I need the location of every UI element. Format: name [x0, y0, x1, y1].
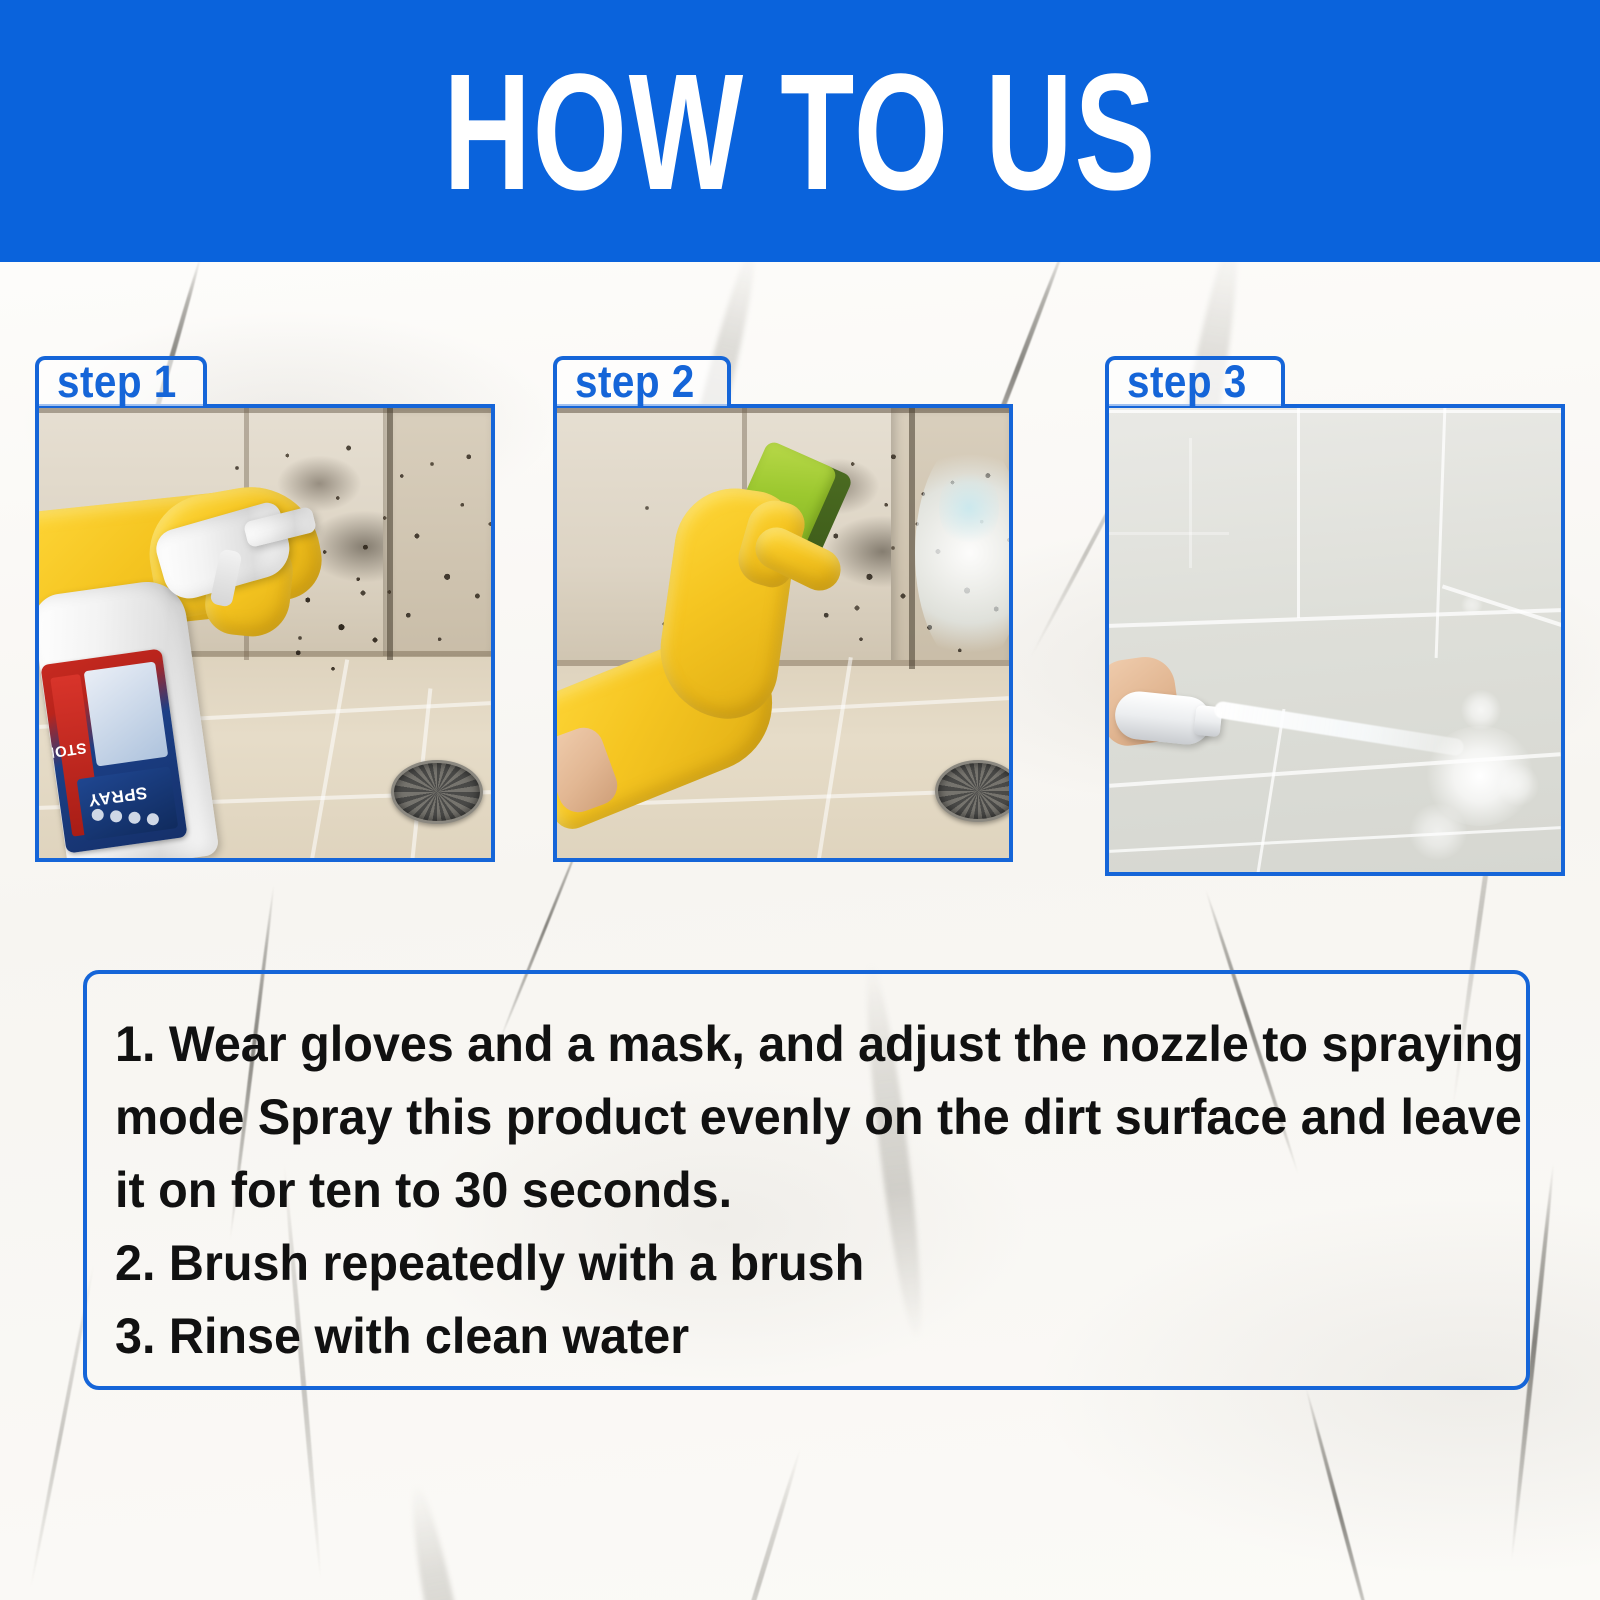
step-2-tab: step 2: [553, 356, 731, 406]
product-label: STONE CLEANING SPRAY: [40, 648, 187, 853]
step-3-image-frame: [1105, 404, 1565, 876]
instruction-line-3: it on for ten to 30 seconds.: [115, 1154, 1458, 1227]
step-3-photo: [1109, 408, 1561, 872]
step-2-image-frame: [553, 404, 1013, 862]
step-panel-1: step 1: [35, 356, 495, 862]
step-1-tab: step 1: [35, 356, 207, 406]
step-1-photo: STONE CLEANING SPRAY: [39, 408, 491, 858]
step-1-image-frame: STONE CLEANING SPRAY: [35, 404, 495, 862]
instruction-line-4: 2. Brush repeatedly with a brush: [115, 1227, 1458, 1300]
step-2-label: step 2: [575, 359, 695, 404]
floor-drain: [391, 760, 483, 824]
instruction-line-5: 3. Rinse with clean water: [115, 1300, 1458, 1373]
instruction-line-2: mode Spray this product evenly on the di…: [115, 1081, 1458, 1154]
instruction-line-1: 1. Wear gloves and a mask, and adjust th…: [115, 1008, 1458, 1081]
how-to-use-infographic: HOW TO US step 1: [0, 0, 1600, 1600]
instructions-box: 1. Wear gloves and a mask, and adjust th…: [83, 970, 1530, 1390]
page-title: HOW TO US: [443, 50, 1157, 216]
step-2-photo: [557, 408, 1009, 858]
step-panel-2: step 2: [553, 356, 1013, 862]
header-banner: HOW TO US: [0, 0, 1600, 262]
step-1-label: step 1: [57, 359, 177, 404]
step-panel-3: step 3: [1105, 356, 1565, 876]
step-3-tab: step 3: [1105, 356, 1285, 406]
step-3-label: step 3: [1127, 359, 1247, 404]
